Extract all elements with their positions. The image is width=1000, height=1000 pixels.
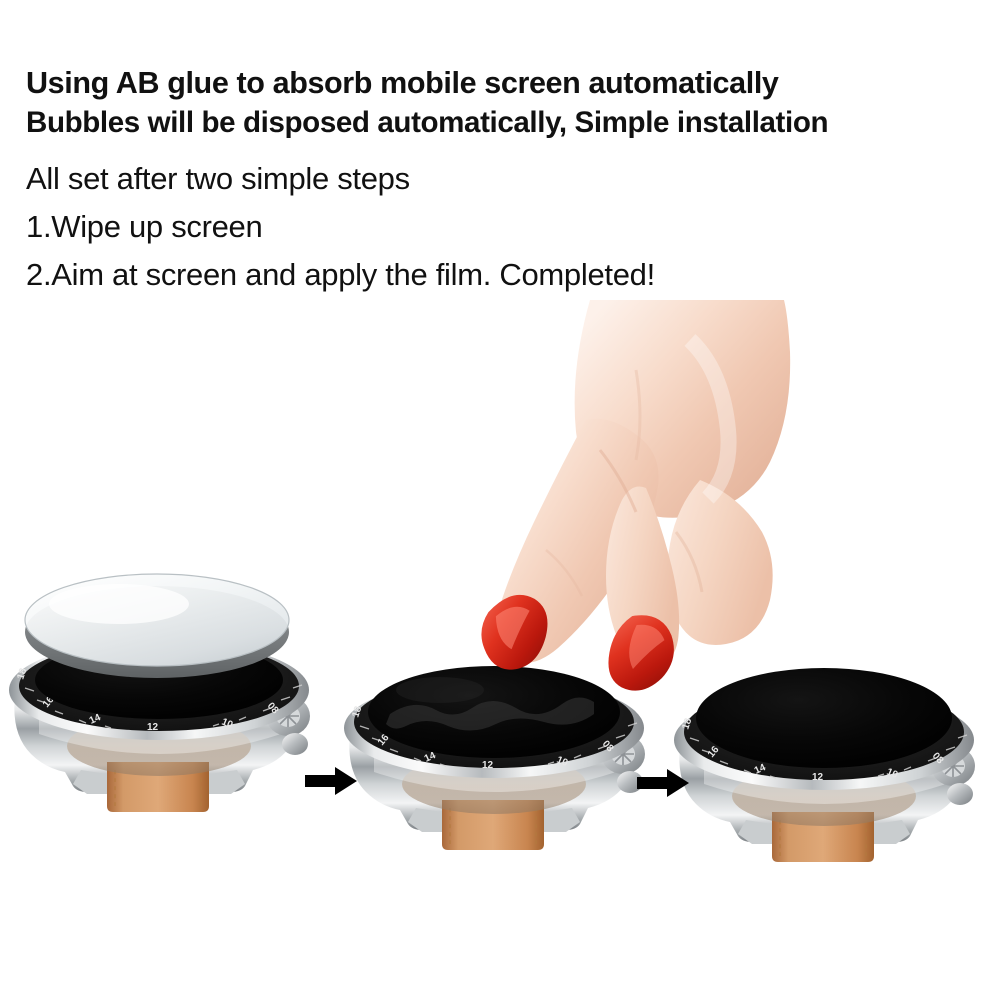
svg-text:12: 12 — [812, 772, 824, 783]
screen-protector-film — [25, 574, 289, 678]
watch-step-1: 18 16 14 12 10 08 — [0, 548, 325, 848]
watch-pusher — [947, 783, 973, 805]
arrow-step-1-to-2 — [305, 766, 357, 796]
watch-pusher — [282, 733, 308, 755]
svg-text:12: 12 — [147, 722, 159, 733]
hand-illustration — [440, 300, 860, 700]
illustration-scene: 18 16 14 12 10 08 — [0, 0, 1000, 1000]
arrow-step-2-to-3 — [637, 768, 689, 798]
svg-text:12: 12 — [482, 760, 494, 771]
